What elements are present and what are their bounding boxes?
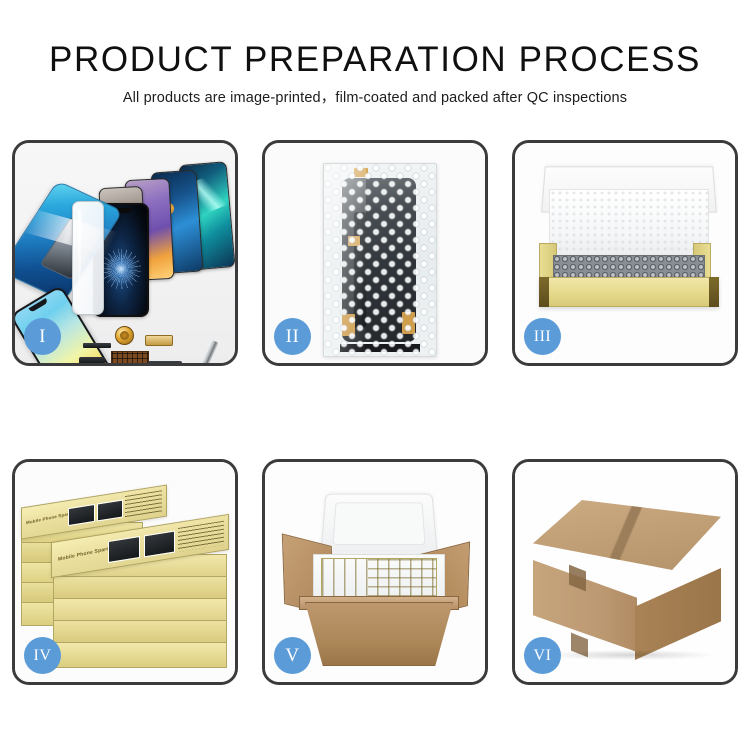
step-panel-6: VI: [512, 459, 738, 685]
copper-shield-grid-part-icon: [111, 351, 149, 363]
page-subtitle: All products are image-printed，film-coat…: [0, 87, 750, 109]
box-spec-text-lines-icon: [178, 520, 224, 552]
process-step-grid: I II: [12, 140, 738, 685]
vibration-motor-part-icon: [115, 326, 134, 345]
short-flex-cable-part-icon: [79, 357, 105, 363]
stacked-box-side-icon: [53, 576, 227, 600]
step-badge-4: IV: [24, 637, 61, 674]
carton-front-panel-icon: [305, 602, 453, 666]
plastic-sheen-icon: [324, 164, 366, 356]
foam-box-lid-icon: [320, 494, 438, 555]
box-window-icon: [97, 499, 123, 522]
box-window-icon: [144, 531, 176, 557]
box-window-icon: [108, 536, 140, 562]
page-title: PRODUCT PREPARATION PROCESS: [0, 38, 750, 82]
step-panel-3: III: [512, 140, 738, 366]
step-badge-6: VI: [524, 637, 561, 674]
stacked-box-side-icon: [53, 620, 227, 644]
step-badge-5: V: [274, 637, 311, 674]
carton-drop-shadow: [545, 650, 715, 660]
gold-flex-cable-part-icon: [145, 335, 173, 346]
stacked-box-side-icon: [53, 598, 227, 622]
step-badge-1: I: [24, 318, 61, 355]
white-foam-liner-icon: [549, 189, 709, 263]
tempered-glass-protector-icon: [72, 201, 104, 315]
step-panel-4: Mobile Phone Spare Parts Mobile Phone Sp…: [12, 459, 238, 685]
step-badge-2: II: [274, 318, 311, 355]
header: PRODUCT PREPARATION PROCESS All products…: [0, 38, 750, 109]
step-panel-5: V: [262, 459, 488, 685]
earpiece-mesh-part-icon: [83, 343, 111, 348]
step-panel-2: II: [262, 140, 488, 366]
black-flex-cable-part-icon: [148, 361, 182, 363]
box-window-icon: [68, 504, 94, 527]
box-spec-text-lines-icon: [125, 490, 162, 518]
step-panel-1: I: [12, 140, 238, 366]
yellow-box-front-icon: [539, 277, 719, 307]
product-preparation-infographic: PRODUCT PREPARATION PROCESS All products…: [0, 0, 750, 750]
step-badge-3: III: [524, 318, 561, 355]
bubble-wrap-bag-icon: [323, 163, 437, 357]
stacked-box-side-icon: [53, 642, 227, 668]
